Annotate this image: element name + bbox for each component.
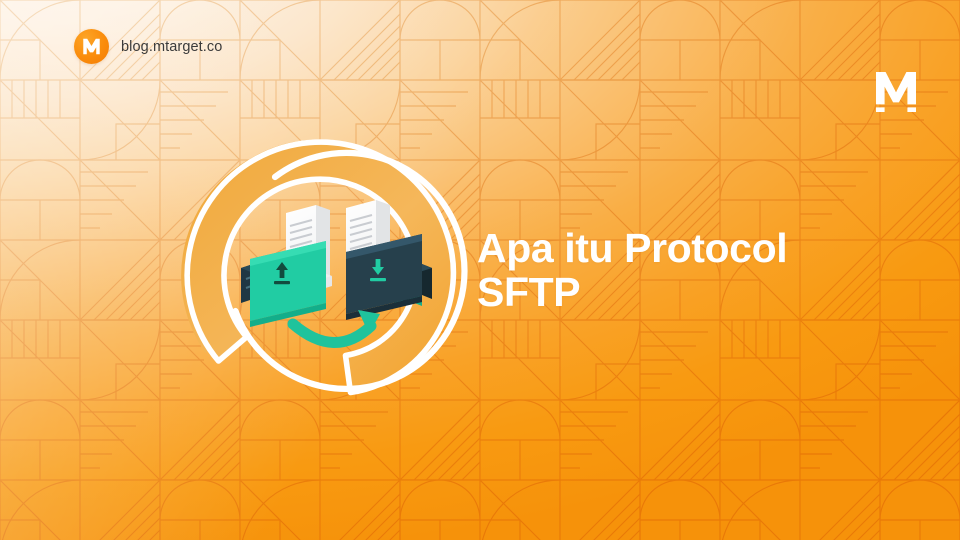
brand-lockup: blog.mtarget.co [74, 29, 222, 64]
upload-folder[interactable] [250, 241, 326, 327]
mtarget-m-logo-icon [81, 36, 102, 57]
cover-canvas: blog.mtarget.co [0, 0, 960, 540]
brand-badge [74, 29, 109, 64]
corner-logo [870, 68, 922, 120]
mtarget-m-logo-icon [870, 68, 922, 120]
brand-url: blog.mtarget.co [121, 39, 222, 55]
sftp-illustration [198, 128, 474, 404]
transfer-arrow-icon [293, 310, 380, 343]
page-title: Apa itu Protocol SFTP [477, 226, 907, 315]
